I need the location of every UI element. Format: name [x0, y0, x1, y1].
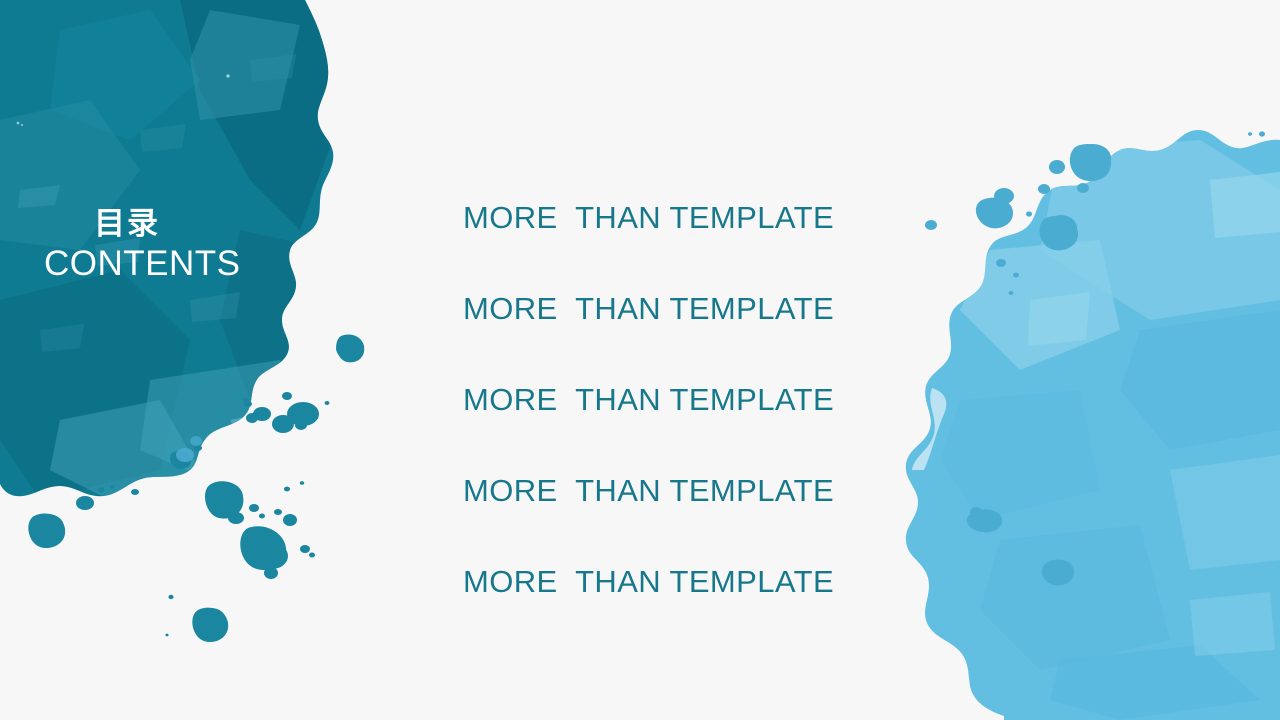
- contents-item-1[interactable]: MORE THAN TEMPLATE: [463, 172, 903, 263]
- contents-item-label: MORE THAN TEMPLATE: [463, 382, 834, 418]
- left-splatter-light-group: [176, 436, 202, 462]
- contents-item-2[interactable]: MORE THAN TEMPLATE: [463, 263, 903, 354]
- page-title-chinese: 目录: [94, 206, 296, 242]
- contents-list: MORE THAN TEMPLATE MORE THAN TEMPLATE MO…: [463, 172, 903, 627]
- page-title: 目录 CONTENTS: [36, 206, 296, 284]
- page-title-english: CONTENTS: [44, 244, 296, 284]
- contents-item-5[interactable]: MORE THAN TEMPLATE: [463, 536, 903, 627]
- contents-item-4[interactable]: MORE THAN TEMPLATE: [463, 445, 903, 536]
- contents-item-label: MORE THAN TEMPLATE: [463, 291, 834, 327]
- right-blob-body: [900, 120, 1280, 720]
- right-splatter-group: [925, 131, 1265, 585]
- left-splatter-group: [28, 334, 364, 642]
- contents-item-label: MORE THAN TEMPLATE: [463, 200, 834, 236]
- slide-canvas: 目录 CONTENTS MORE THAN TEMPLATE MORE THAN…: [0, 0, 1280, 720]
- contents-item-label: MORE THAN TEMPLATE: [463, 473, 834, 509]
- contents-item-label: MORE THAN TEMPLATE: [463, 564, 834, 600]
- contents-item-3[interactable]: MORE THAN TEMPLATE: [463, 354, 903, 445]
